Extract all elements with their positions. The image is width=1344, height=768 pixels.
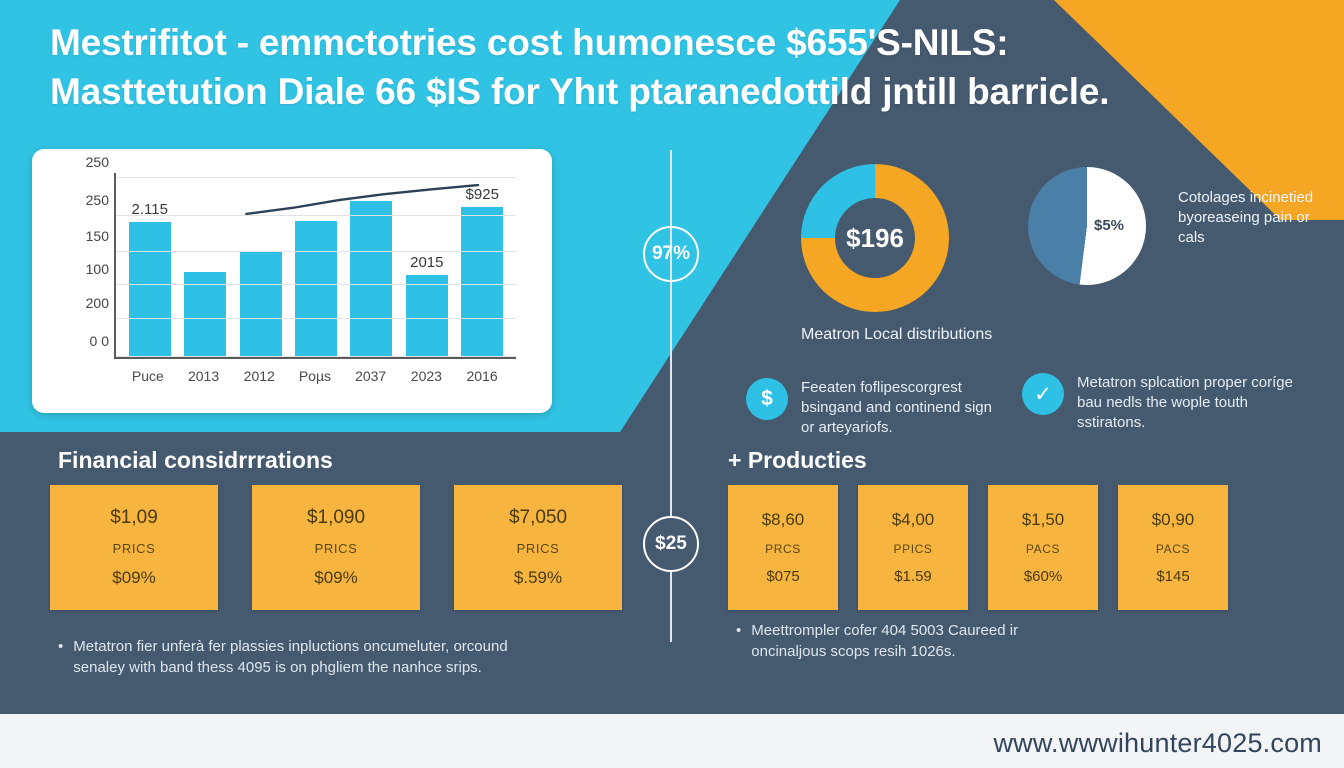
products-card-grid: $8,60PRCS$075$4,00PPICS$1.59$1,50PACS$60…: [728, 485, 1228, 610]
x-axis-tick: 2016: [461, 368, 503, 384]
x-axis-tick: 2023: [405, 368, 447, 384]
bar-column[interactable]: [240, 173, 282, 357]
x-axis-tick: 2012: [238, 368, 280, 384]
financial-card[interactable]: $1,090PRICS$09%: [252, 485, 420, 610]
bar-column[interactable]: [350, 173, 392, 357]
page-title: Mestrifitot - emmctotries cost humonesce…: [50, 18, 1295, 116]
feature-item-check: ✓ Metatron splcation proper coríge bau n…: [1022, 373, 1312, 433]
infographic-canvas: Mestrifitot - emmctotries cost humonesce…: [0, 0, 1344, 768]
bar[interactable]: [461, 207, 503, 357]
y-axis-tick: 100: [86, 261, 109, 277]
bullet-products: • Meettrompler cofer 404 5003 Caureed ir…: [736, 620, 1036, 662]
grid-line: [116, 251, 516, 252]
x-axis-tick: Puce: [127, 368, 169, 384]
product-card-sub: $075: [766, 568, 799, 585]
financial-card[interactable]: $7,050PRICS$.59%: [454, 485, 622, 610]
bar-column[interactable]: [295, 173, 337, 357]
product-card[interactable]: $0,90PACS$145: [1118, 485, 1228, 610]
y-axis-tick: 0 0: [90, 333, 109, 349]
bullet-marker: •: [58, 636, 63, 678]
product-card[interactable]: $4,00PPICS$1.59: [858, 485, 968, 610]
grid-line: [116, 215, 516, 216]
header: Mestrifitot - emmctotries cost humonesce…: [50, 18, 1295, 116]
donut-caption: Meatron Local distributions: [801, 324, 1001, 345]
pie-caption: Cotolages incinetied byoreaseing pain or…: [1178, 188, 1328, 248]
y-axis-tick: 150: [86, 228, 109, 244]
product-card-label: PRCS: [765, 542, 801, 556]
y-axis-tick: 250: [86, 192, 109, 208]
financial-card-label: PRICS: [517, 541, 560, 556]
financial-card-value: $1,09: [110, 507, 158, 529]
donut-chart: $196: [801, 164, 949, 312]
financial-card-grid: $1,09PRICS$09%$1,090PRICS$09%$7,050PRICS…: [50, 485, 622, 610]
feature-text-check: Metatron splcation proper coríge bau ned…: [1077, 373, 1312, 433]
product-card[interactable]: $8,60PRCS$075: [728, 485, 838, 610]
financial-card-label: PRICS: [113, 541, 156, 556]
x-axis-tick: Poµs: [294, 368, 336, 384]
product-card-label: PACS: [1156, 542, 1190, 556]
product-card-sub: $145: [1156, 568, 1189, 585]
bar-chart-card: 2.1152015$925 2502501501002000 0 Puce201…: [32, 149, 552, 413]
grid-line: [116, 177, 516, 178]
product-card-value: $8,60: [762, 510, 805, 530]
x-axis-tick: 2013: [183, 368, 225, 384]
bar[interactable]: [406, 275, 448, 357]
grid-line: [116, 284, 516, 285]
financial-card-value: $7,050: [509, 507, 567, 529]
bar[interactable]: [350, 201, 392, 357]
product-card-label: PPICS: [893, 542, 932, 556]
page-title-line-1: Mestrifitot - emmctotries cost humonesce…: [50, 22, 1008, 63]
dollar-icon: $: [746, 378, 788, 420]
vertical-timeline: 97% $25: [670, 150, 672, 642]
bar-column[interactable]: [184, 173, 226, 357]
bar-value-label: 2.115: [131, 201, 167, 218]
feature-text-dollar: Feeaten foflipescorgrest bsingand and co…: [801, 378, 996, 438]
pie-chart: $5%: [1028, 167, 1146, 285]
bar-column[interactable]: 2015: [406, 173, 448, 357]
bullet-financial: • Metatron fier unferà fer plassies inpl…: [58, 636, 528, 678]
bar-column[interactable]: $925: [461, 173, 503, 357]
section-title-financial: Financial considrrrations: [58, 447, 333, 474]
product-card-label: PACS: [1026, 542, 1060, 556]
bar-chart-x-axis: Puce20132012Poµs203720232016: [114, 365, 516, 387]
product-card-value: $4,00: [892, 510, 935, 530]
timeline-badge-97[interactable]: 97%: [643, 226, 699, 282]
financial-card-sub: $.59%: [514, 568, 562, 588]
financial-card[interactable]: $1,09PRICS$09%: [50, 485, 218, 610]
bullet-text-products: Meettrompler cofer 404 5003 Caureed ir o…: [751, 620, 1036, 662]
bullet-text-financial: Metatron fier unferà fer plassies inpluc…: [73, 636, 528, 678]
donut-center-value: $196: [835, 198, 915, 278]
bar-chart-plot-area: 2.1152015$925 2502501501002000 0: [114, 173, 516, 359]
timeline-badge-25[interactable]: $25: [643, 516, 699, 572]
y-axis-tick: 200: [86, 295, 109, 311]
pie-slice-label: $5%: [1094, 217, 1124, 234]
bar[interactable]: [240, 251, 282, 357]
product-card-sub: $60%: [1024, 568, 1062, 585]
grid-line: [116, 318, 516, 319]
bar[interactable]: [129, 222, 171, 357]
product-card-value: $1,50: [1022, 510, 1065, 530]
product-card[interactable]: $1,50PACS$60%: [988, 485, 1098, 610]
footer-url[interactable]: www.wwwihunter4025.com: [993, 728, 1322, 759]
financial-card-label: PRICS: [315, 541, 358, 556]
grid-line: [116, 356, 516, 357]
product-card-value: $0,90: [1152, 510, 1195, 530]
bar[interactable]: [295, 221, 337, 357]
bar-chart-inner: 2.1152015$925 2502501501002000 0 Puce201…: [58, 167, 526, 399]
product-card-sub: $1.59: [894, 568, 932, 585]
pie-slices: [1028, 167, 1146, 285]
page-title-line-2: Masttetution Diale 66 $IS for Yhıt ptara…: [50, 67, 1295, 116]
bar-column[interactable]: 2.115: [129, 173, 171, 357]
financial-card-sub: $09%: [314, 568, 357, 588]
check-icon: ✓: [1022, 373, 1064, 415]
bullet-marker: •: [736, 620, 741, 662]
feature-item-dollar: $ Feeaten foflipescorgrest bsingand and …: [746, 378, 996, 438]
x-axis-tick: 2037: [350, 368, 392, 384]
bar-value-label: $925: [466, 186, 499, 203]
financial-card-sub: $09%: [112, 568, 155, 588]
bar-chart-bars: 2.1152015$925: [116, 173, 516, 357]
financial-card-value: $1,090: [307, 507, 365, 529]
bar-value-label: 2015: [410, 254, 443, 271]
y-axis-tick: 250: [86, 154, 109, 170]
section-title-products: + Producties: [728, 447, 867, 474]
